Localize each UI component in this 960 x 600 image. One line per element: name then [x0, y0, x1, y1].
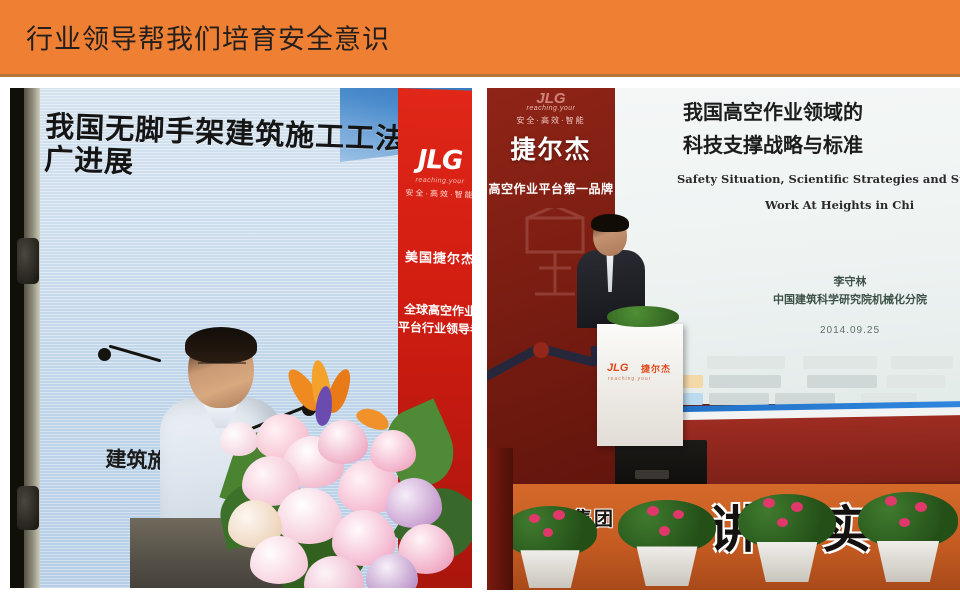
- stage-orange-banner: 学成集团 ® 讲求实: [487, 484, 960, 590]
- jlg-logo-cn-small: 安全·高效·智能: [487, 115, 615, 126]
- speaker-box-vent: [635, 470, 669, 479]
- slide-title: 我国高空作业领域的 科技支撑战略与标准: [683, 96, 960, 162]
- podium-right: JLG 捷尔杰 reaching.your: [597, 324, 683, 446]
- potted-plant: [749, 494, 825, 582]
- slide-date: 2014.09.25: [735, 325, 960, 336]
- speaker-hair: [591, 214, 629, 232]
- slide-title-line-2: 科技支撑战略与标准: [683, 129, 960, 162]
- slide-header-bar: 行业领导帮我们培育安全意识: [0, 0, 960, 77]
- podium-tagline: reaching.your: [608, 376, 651, 382]
- jlg-slogan-cn: 高空作业平台第一品牌: [487, 180, 615, 197]
- conference-photo-right: 我国高空作业领域的 科技支撑战略与标准 Safety Situation, Sc…: [487, 88, 960, 590]
- slide-author-affiliation: 中国建筑科学研究院机械化分院: [735, 292, 960, 310]
- jlg-logo-tagline: reaching.your: [487, 105, 615, 112]
- jlg-logo-cn-small: 安全·高效·智能: [398, 187, 472, 201]
- microphone-head-left: [98, 348, 111, 361]
- potted-plant: [513, 506, 587, 588]
- slide-author-name: 李守林: [735, 274, 960, 292]
- potted-plant: [869, 492, 947, 582]
- wall-speaker-lower: [17, 486, 39, 530]
- stage-curtain-left-edge: [487, 448, 513, 590]
- wall-speaker-upper: [17, 238, 39, 284]
- speaker-hair: [185, 327, 257, 363]
- jlg-company-cn: 捷尔杰: [487, 130, 615, 166]
- page-title: 行业领导帮我们培育安全意识: [26, 18, 390, 57]
- slide-subtitle-line-2: Work At Heights in Chi: [765, 198, 960, 212]
- potted-plant: [629, 500, 705, 586]
- podium-jlg-logo: JLG: [607, 362, 628, 374]
- jlg-slogan-cn: 全球高空作业 平台行业领导者: [398, 300, 472, 339]
- conference-photo-left: 我国无脚手架建筑施工工法推广进展 建筑施工安 JLG reaching.your…: [10, 88, 472, 588]
- jlg-logo-tagline: reaching.your: [398, 176, 472, 186]
- slide-title-line-1: 我国高空作业领域的: [683, 96, 960, 129]
- jlg-company-cn: 美国捷尔杰: [398, 246, 472, 268]
- podium-jlg-cn: 捷尔杰: [641, 362, 671, 375]
- slide-subtitle-line-1: Safety Situation, Scientific Strategies …: [677, 172, 960, 186]
- podium-plant: [615, 306, 671, 340]
- jlg-slogan-line-2: 平台行业领导者: [398, 318, 472, 339]
- presentation-slide: 行业领导帮我们培育安全意识 我国无脚手架建筑施工工法推广进展 建筑施工安 JLG…: [0, 0, 960, 600]
- jlg-logo-text: JLG: [398, 144, 472, 177]
- flower-bouquet: [220, 360, 470, 588]
- slide-author-block: 李守林 中国建筑科学研究院机械化分院: [735, 274, 960, 309]
